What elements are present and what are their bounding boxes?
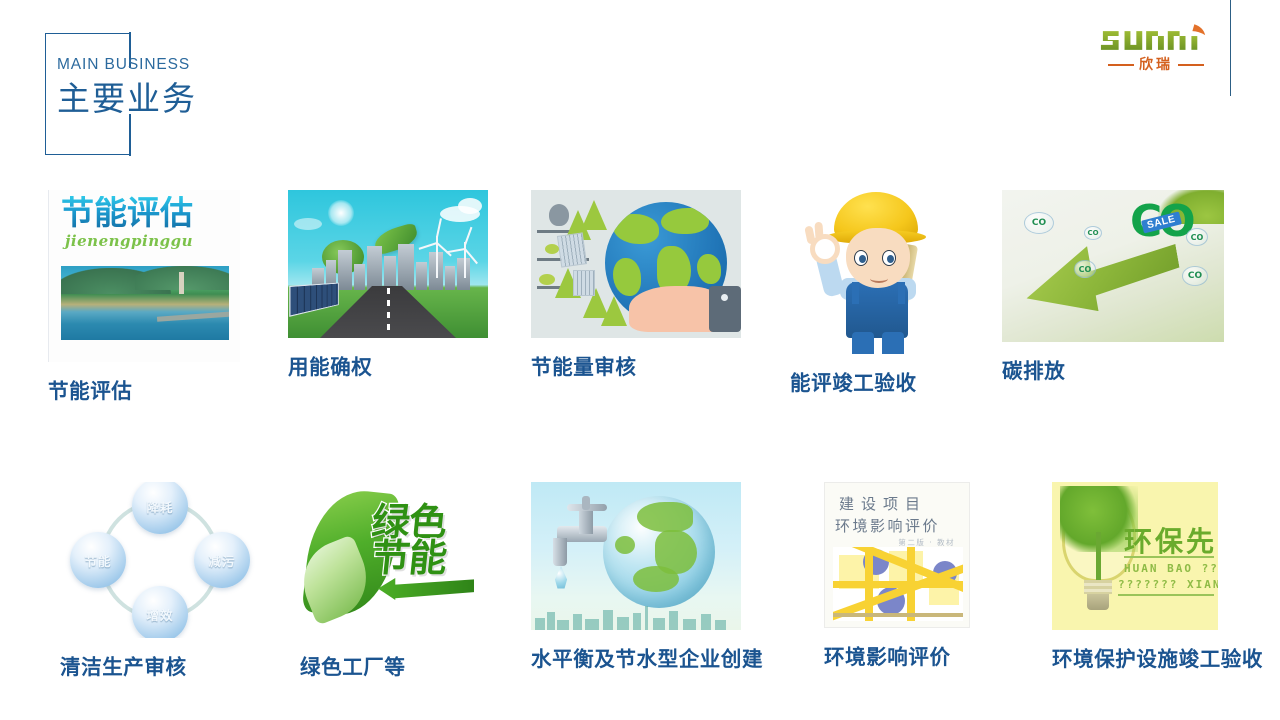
card-label: 环境保护设施竣工验收 <box>1052 642 1263 672</box>
cycle-node-right: 减污 <box>194 532 250 588</box>
energy-saving-assessment-poster-icon: 节能评估 jienengpinggu <box>48 190 240 362</box>
page-title-en: MAIN BUSINESS <box>57 56 197 73</box>
card-label: 用能确权 <box>288 350 488 380</box>
book-title-line-1: 建设项目 <box>839 493 927 514</box>
co2-bubble: CO <box>1074 260 1096 278</box>
card-label: 水平衡及节水型企业创建 <box>531 642 763 672</box>
water-globe-shape <box>603 496 715 608</box>
logo-dash-right <box>1178 64 1204 66</box>
water-drop-shape <box>553 566 569 590</box>
carbon-emission-arrow-icon: CO SALE CO CO CO CO CO <box>1002 190 1224 342</box>
construction-worker-mascot-icon <box>790 186 960 354</box>
card-label: 清洁生产审核 <box>60 650 260 680</box>
page-title-cn: 主要业务 <box>57 80 197 118</box>
co2-bubble: CO <box>1084 226 1102 240</box>
page-title: MAIN BUSINESS 主要业务 <box>57 56 197 118</box>
green-city-road-icon <box>288 190 488 338</box>
business-card-energy-use-rights[interactable]: 用能确权 <box>288 190 488 380</box>
business-card-green-factory[interactable]: 绿色 节能 绿色工厂等 <box>300 482 490 680</box>
poster-title-cn: 节能评估 <box>61 196 193 229</box>
business-card-environmental-facility-acceptance[interactable]: 环保先 HUAN BAO ??? ??????? XIAN 环境保护设施竣工验收 <box>1052 482 1263 672</box>
logo-cn-row: 欣瑞 <box>1097 58 1215 72</box>
card-label: 能评竣工验收 <box>790 366 960 396</box>
header-divider <box>1230 0 1231 96</box>
faucet-globe-water-drop-icon <box>531 482 741 630</box>
book-title-line-2: 环境影响评价 <box>835 515 940 536</box>
logo-wordmark <box>1097 22 1215 56</box>
card-label: 环境影响评价 <box>824 640 970 670</box>
skyline-shape <box>531 604 741 630</box>
city-river-photo <box>61 266 229 340</box>
eia-book-cover-icon: 建设项目 环境影响评价 第二版 · 教材 <box>824 482 970 628</box>
eco-bulb-tree-poster-icon: 环保先 HUAN BAO ??? ??????? XIAN <box>1052 482 1218 630</box>
poster-pinyin-line-2: ??????? XIAN <box>1118 578 1218 591</box>
business-card-clean-production-audit[interactable]: 降耗 减污 增效 节能 清洁生产审核 <box>60 482 260 680</box>
poster-pinyin: jienengpinggu <box>65 232 193 250</box>
leaf-wordmark: 绿色 节能 <box>372 504 484 614</box>
book-cover-artwork <box>833 547 963 621</box>
business-card-energy-saving-audit[interactable]: 节能量审核 <box>531 190 741 380</box>
slide-canvas: MAIN BUSINESS 主要业务 欣瑞 <box>0 0 1280 720</box>
card-label: 节能量审核 <box>531 350 741 380</box>
business-card-carbon-emission[interactable]: CO SALE CO CO CO CO CO 碳排放 <box>1002 190 1224 384</box>
leaf-word-line-1: 绿色 <box>370 504 486 540</box>
logo-cn-text: 欣瑞 <box>1139 58 1173 72</box>
co2-bubble: CO <box>1182 266 1208 286</box>
leaf-word-line-2: 节能 <box>370 540 486 576</box>
clean-production-cycle-diagram-icon: 降耗 减污 增效 节能 <box>60 482 260 638</box>
card-label: 节能评估 <box>48 374 240 404</box>
business-card-energy-saving-assessment[interactable]: 节能评估 jienengpinggu 节能评估 <box>48 190 240 404</box>
business-card-energy-review-acceptance[interactable]: 能评竣工验收 <box>790 186 960 396</box>
business-card-environmental-impact-assessment[interactable]: 建设项目 环境影响评价 第二版 · 教材 环境影响评价 <box>824 482 970 670</box>
poster-title-cn: 环保先 <box>1124 520 1217 560</box>
business-card-water-balance[interactable]: 水平衡及节水型企业创建 <box>531 482 763 672</box>
co2-bubble: CO <box>1186 228 1208 246</box>
hand-holding-earth-icon <box>531 190 741 338</box>
logo-dash-left <box>1108 64 1134 66</box>
cycle-node-left: 节能 <box>70 532 126 588</box>
sunri-logo-icon: 欣瑞 <box>1097 22 1215 80</box>
card-label: 绿色工厂等 <box>300 650 490 680</box>
green-leaf-logo-icon: 绿色 节能 <box>300 482 490 638</box>
cycle-node-bottom: 增效 <box>132 586 188 638</box>
poster-pinyin-line-1: HUAN BAO ??? <box>1124 562 1218 575</box>
card-label: 碳排放 <box>1002 354 1224 384</box>
co2-bubble: CO <box>1024 212 1054 234</box>
